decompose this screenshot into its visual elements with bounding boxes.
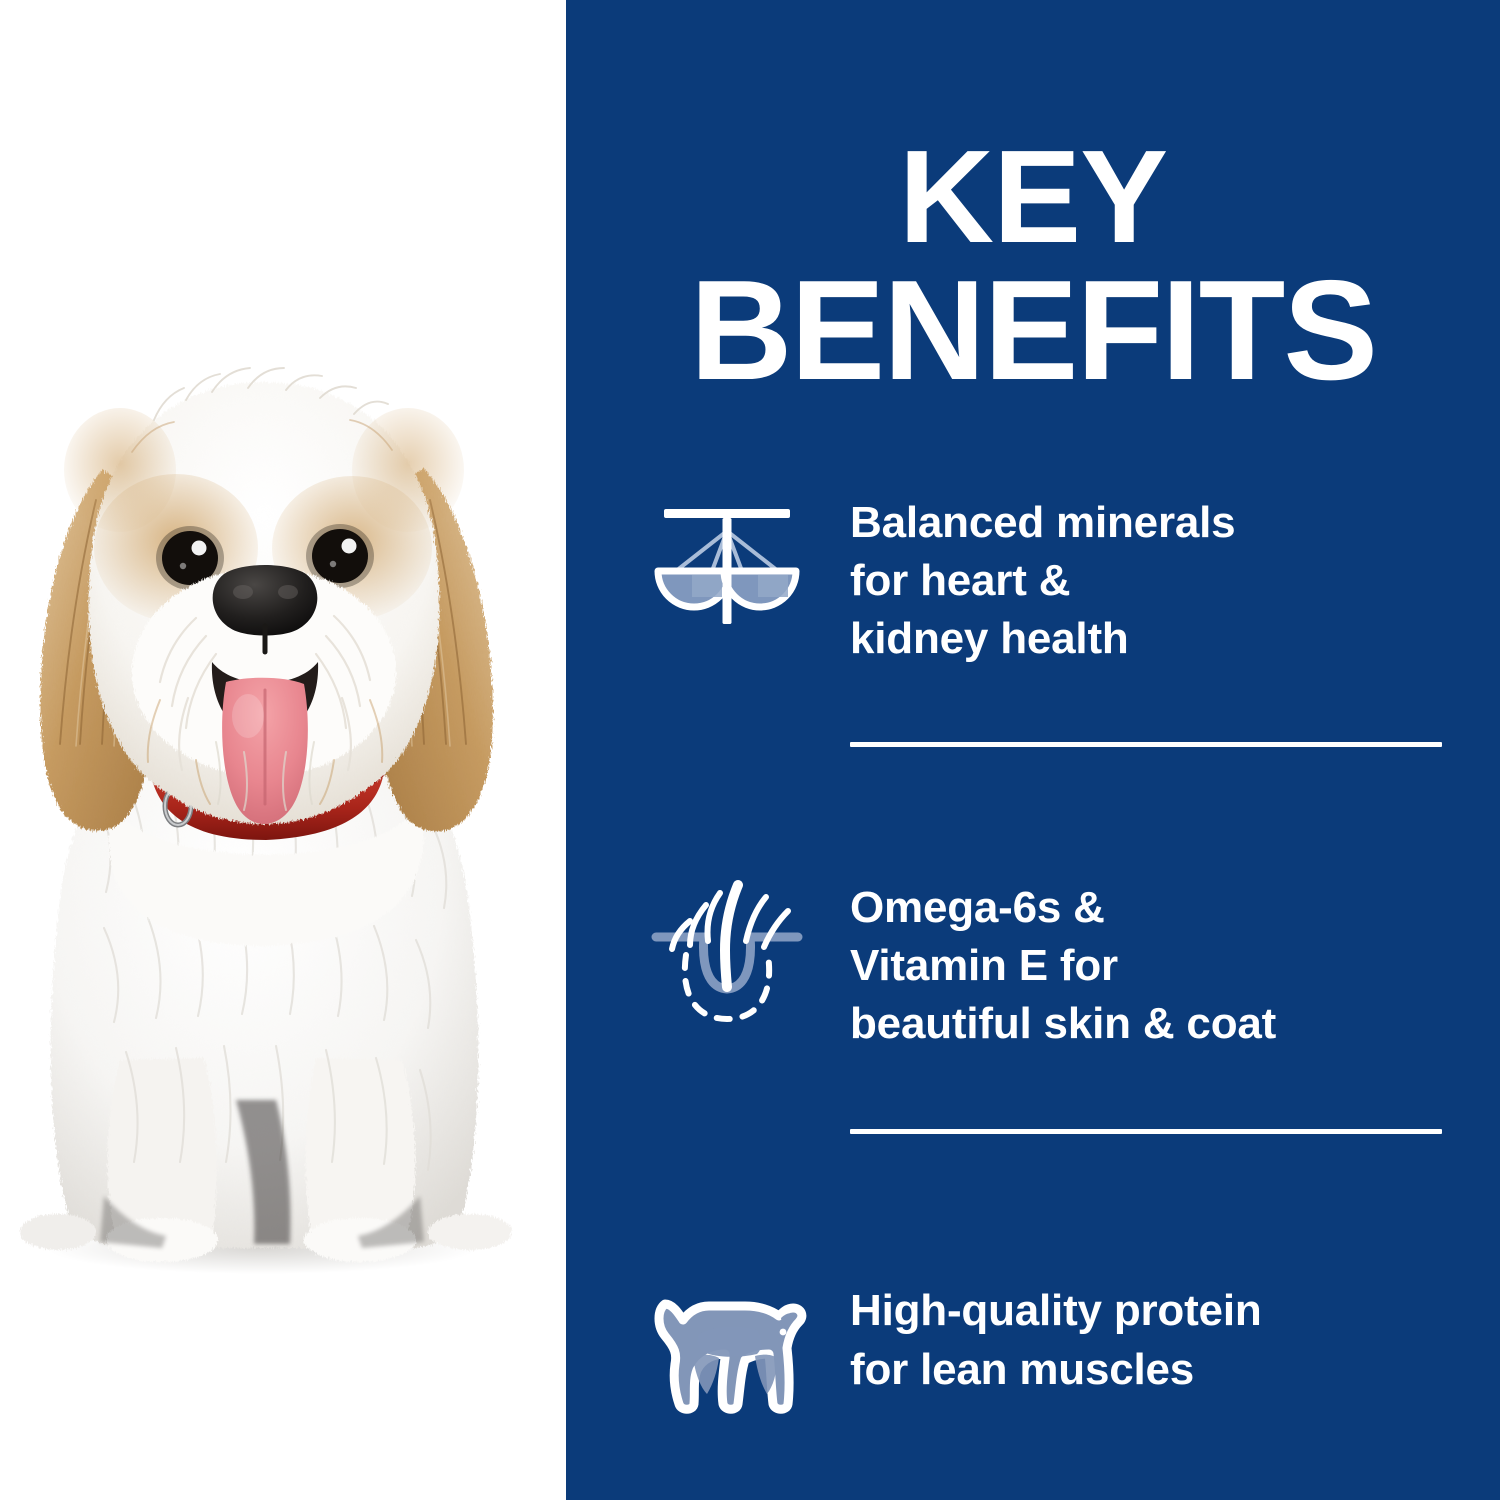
benefit-text-high-quality-protein: High-quality protein for lean muscles [850,1276,1262,1398]
benefit-item-omega-vitamin-e: Omega-6s & Vitamin E for beautiful skin … [638,873,1442,1053]
benefit-text-balanced-minerals: Balanced minerals for heart & kidney hea… [850,488,1235,668]
shih-tzu-dog-photo [0,0,566,1500]
dog-photo-panel [0,0,566,1500]
benefit-line: beautiful skin & coat [850,999,1276,1048]
title-line-2: BENEFITS [566,261,1500,400]
balance-scale-icon [638,496,816,646]
benefit-line: kidney health [850,614,1129,663]
key-benefits-page: KEY BENEFITS [0,0,1500,1500]
benefit-line: Omega-6s & [850,883,1105,932]
hair-follicle-icon [638,879,816,1029]
benefit-divider-2 [850,1129,1442,1134]
benefit-line: for lean muscles [850,1345,1194,1394]
benefit-line: for heart & [850,556,1070,605]
page-title: KEY BENEFITS [566,132,1500,401]
key-benefits-panel: KEY BENEFITS [566,0,1500,1500]
benefit-line: Vitamin E for [850,941,1118,990]
title-line-1: KEY [566,132,1500,261]
benefits-list: Balanced minerals for heart & kidney hea… [638,488,1442,1430]
benefit-text-omega-vitamin-e: Omega-6s & Vitamin E for beautiful skin … [850,873,1276,1053]
benefit-line: High-quality protein [850,1286,1262,1335]
dog-muscle-icon [638,1280,816,1430]
benefit-item-high-quality-protein: High-quality protein for lean muscles [638,1276,1442,1430]
benefit-line: Balanced minerals [850,498,1235,547]
benefit-divider-1 [850,742,1442,747]
benefit-item-balanced-minerals: Balanced minerals for heart & kidney hea… [638,488,1442,668]
